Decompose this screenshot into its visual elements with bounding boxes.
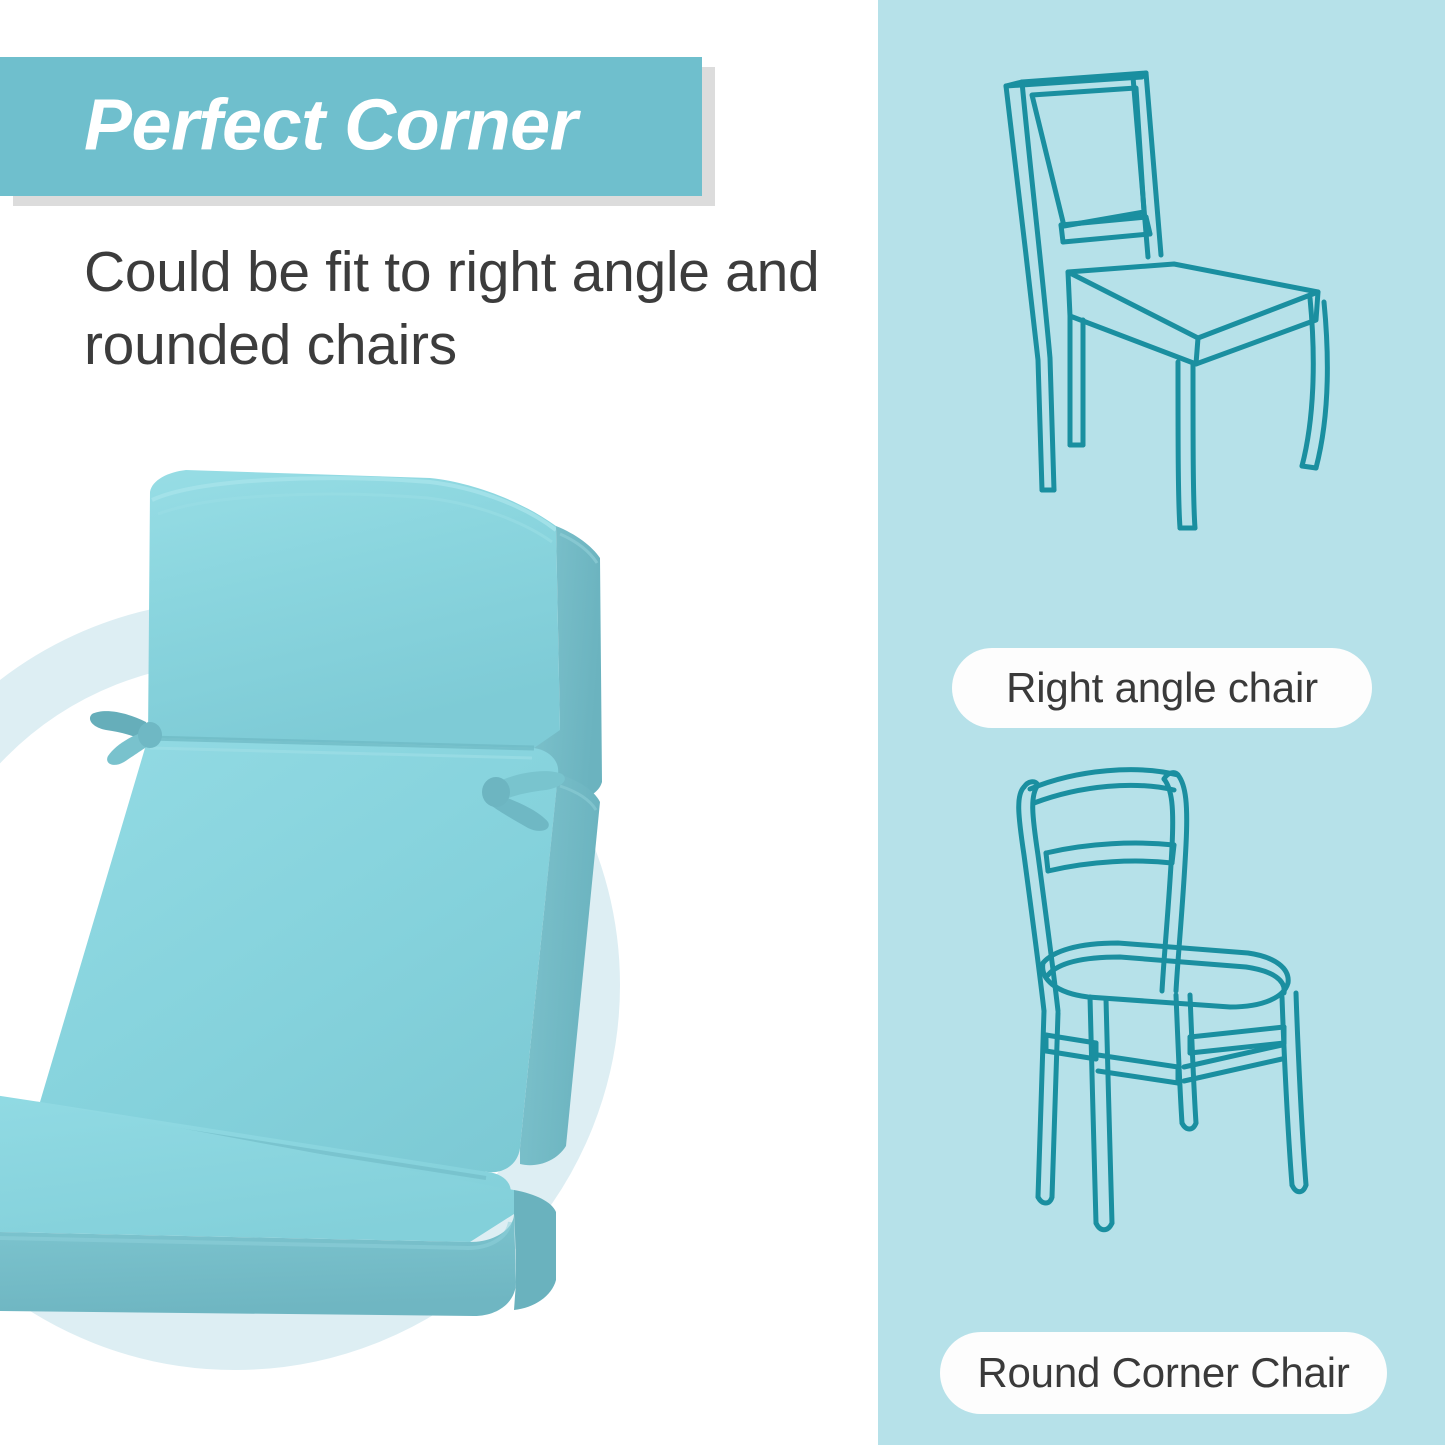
product-image <box>0 430 640 1350</box>
round-corner-chair-icon <box>878 745 1445 1315</box>
figure-right-angle-chair <box>878 20 1445 640</box>
header-banner: Perfect Corner <box>0 57 716 207</box>
cushion-backrest-upper <box>148 470 560 748</box>
cushion-seat-side <box>514 1190 556 1310</box>
subtitle-line-2: rounded chairs <box>84 309 844 382</box>
infographic-page: Perfect Corner Could be fit to right ang… <box>0 0 1445 1445</box>
right-angle-chair-icon <box>878 20 1445 640</box>
label-text: Round Corner Chair <box>977 1349 1349 1397</box>
label-pill-round-corner-chair: Round Corner Chair <box>940 1332 1387 1414</box>
label-text: Right angle chair <box>1006 664 1318 712</box>
label-pill-right-angle-chair: Right angle chair <box>952 648 1372 728</box>
page-title: Perfect Corner <box>84 89 577 161</box>
left-content-column: Perfect Corner Could be fit to right ang… <box>0 0 878 1445</box>
cushion-backrest-lower <box>40 738 559 1172</box>
cushion-illustration <box>0 430 640 1350</box>
figure-round-corner-chair <box>878 745 1445 1315</box>
subtitle-line-1: Could be fit to right angle and <box>84 236 844 309</box>
right-reference-panel: Right angle chair <box>878 0 1445 1445</box>
subtitle-text: Could be fit to right angle and rounded … <box>84 236 844 382</box>
banner-bar: Perfect Corner <box>0 57 702 196</box>
